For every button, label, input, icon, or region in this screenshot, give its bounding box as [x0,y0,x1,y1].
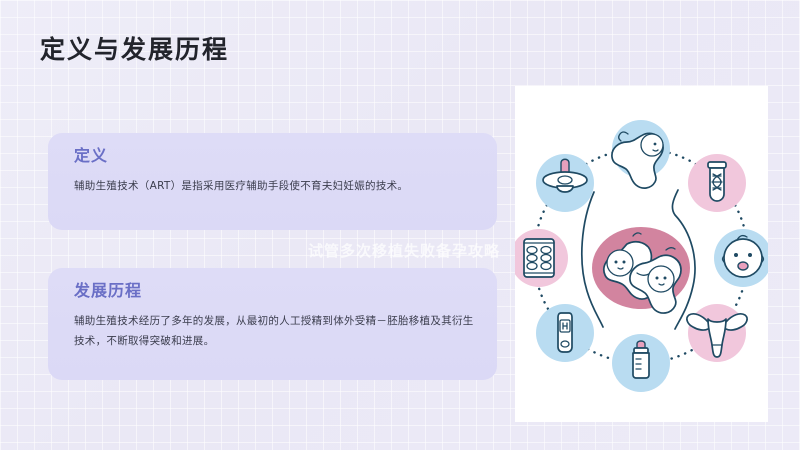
uterus-icon [687,304,747,362]
pill-blister-icon [515,229,568,287]
pregnancy-test-icon [536,304,594,362]
pacifier-icon [536,154,594,212]
slide-canvas: 定义与发展历程 定义 辅助生殖技术（ART）是指采用医疗辅助手段使不育夫妇妊娠的… [0,0,800,450]
card-definition-heading: 定义 [74,147,475,165]
card-history-heading: 发展历程 [74,282,475,300]
card-history: 发展历程 辅助生殖技术经历了多年的发展，从最初的人工授精到体外受精－胚胎移植及其… [48,268,497,380]
test-tube-dna-icon [688,154,746,212]
illustration-panel: .ln { fill:none; stroke:#1f4a63; stroke-… [515,86,768,422]
card-history-body: 辅助生殖技术经历了多年的发展，从最初的人工授精到体外受精－胚胎移植及其衍生技术，… [74,311,475,352]
pregnant-belly-with-twins [582,190,695,329]
page-title: 定义与发展历程 [40,30,229,66]
card-definition: 定义 辅助生殖技术（ART）是指采用医疗辅助手段使不育夫妇妊娠的技术。 [48,133,497,230]
fertility-infographic: .ln { fill:none; stroke:#1f4a63; stroke-… [515,86,768,422]
fetus-icon [612,120,670,188]
watermark-text: 试管多次移植失败备孕攻略 [308,240,500,261]
baby-face-icon [714,229,768,287]
baby-bottle-icon [612,334,670,392]
card-definition-body: 辅助生殖技术（ART）是指采用医疗辅助手段使不育夫妇妊娠的技术。 [74,176,475,196]
